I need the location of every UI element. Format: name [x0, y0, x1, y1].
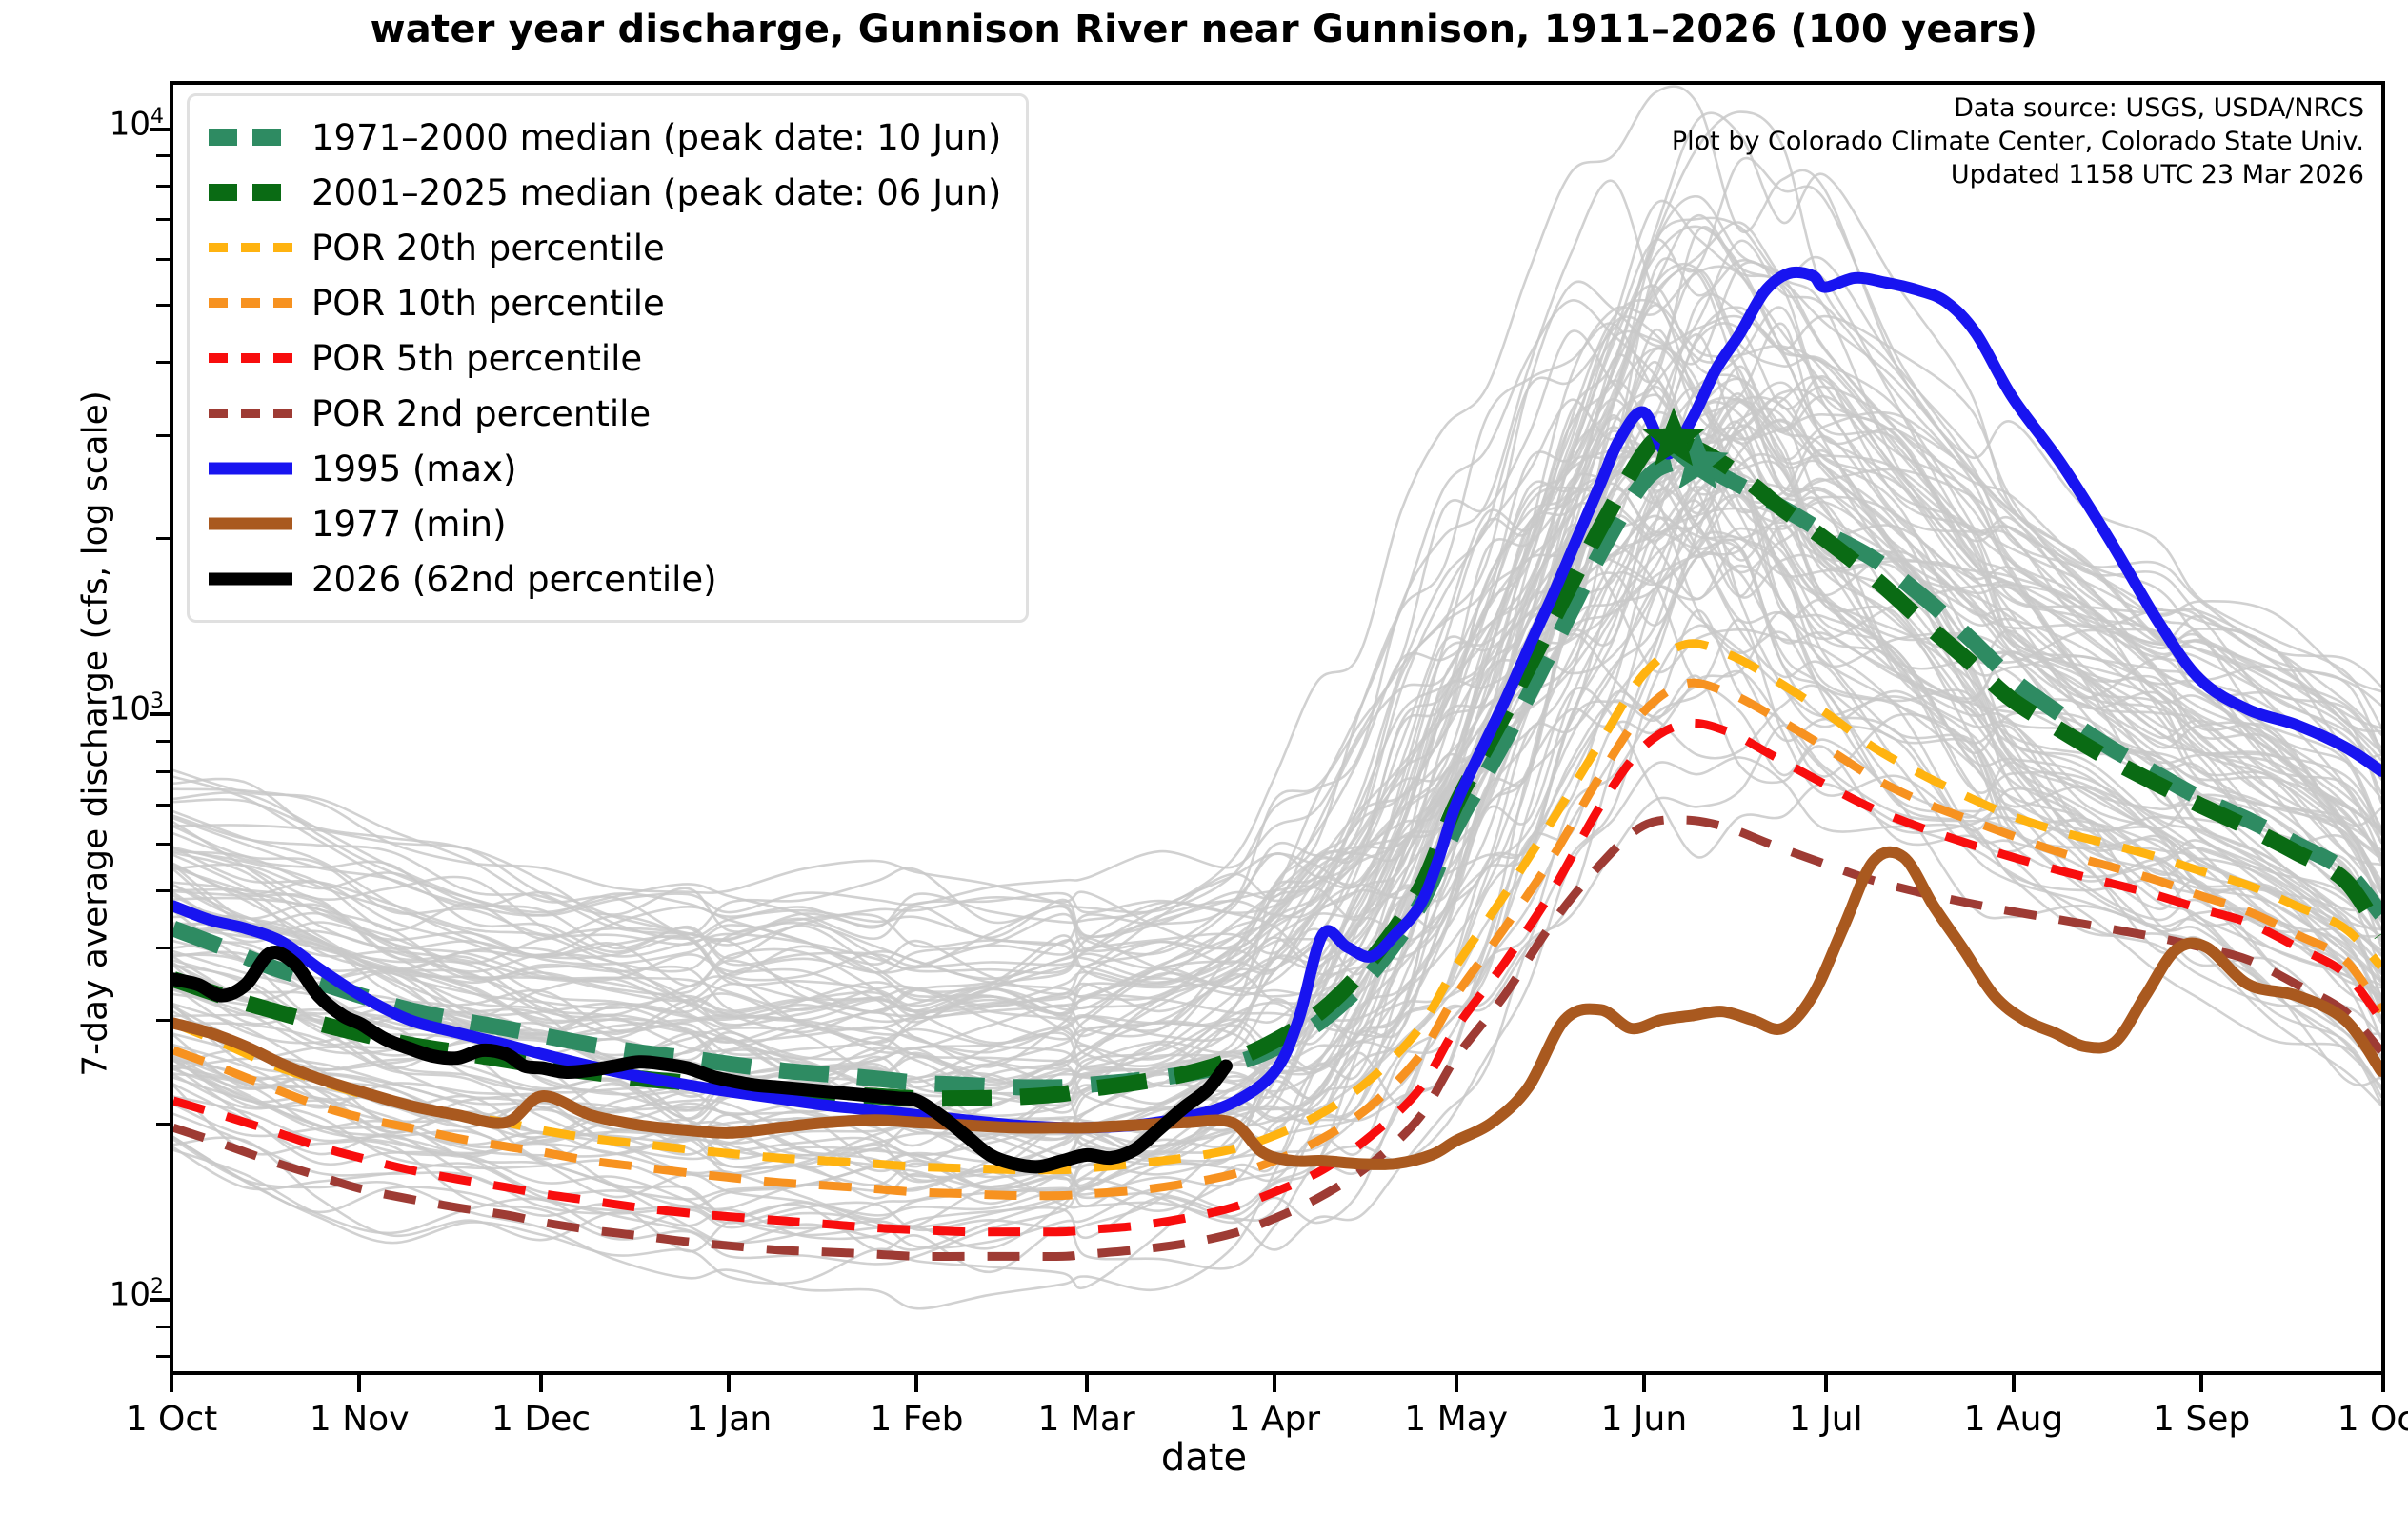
y-tick-mark-minor: [156, 1019, 170, 1022]
legend-item-year-2026-current[interactable]: 2026 (62nd percentile): [207, 551, 1001, 607]
y-tick-mark-minor: [156, 434, 170, 437]
legend-item-label: POR 2nd percentile: [311, 396, 651, 431]
legend-item-label: POR 5th percentile: [311, 341, 642, 376]
legend-item-year-1977-min[interactable]: 1977 (min): [207, 496, 1001, 551]
y-tick-mantissa: 10: [110, 105, 150, 143]
x-tick-mark: [1642, 1375, 1646, 1392]
legend-swatch-icon: [207, 441, 294, 496]
legend-item-label: 1995 (max): [311, 451, 516, 487]
x-tick-mark: [1273, 1375, 1276, 1392]
x-tick-label: 1 Aug: [1909, 1400, 2118, 1439]
x-tick-label: 1 Jul: [1721, 1400, 1931, 1439]
legend-item-por-p05[interactable]: POR 5th percentile: [207, 330, 1001, 386]
y-tick-mark-major: [150, 128, 170, 131]
legend: 1971–2000 median (peak date: 10 Jun)2001…: [187, 93, 1029, 623]
y-tick-mark-minor: [156, 1123, 170, 1126]
legend-item-year-1995-max[interactable]: 1995 (max): [207, 441, 1001, 496]
x-tick-label: 1 Oct: [2278, 1400, 2408, 1439]
y-tick-mark-minor: [156, 258, 170, 261]
x-tick-mark: [1085, 1375, 1089, 1392]
y-tick-exponent: 3: [150, 689, 164, 713]
y-tick-mark-minor: [156, 218, 170, 221]
x-tick-mark: [914, 1375, 918, 1392]
legend-item-label: 2001–2025 median (peak date: 06 Jun): [311, 175, 1001, 210]
y-tick-mark-major: [150, 1298, 170, 1302]
legend-item-por-p20[interactable]: POR 20th percentile: [207, 220, 1001, 275]
chart-root: water year discharge, Gunnison River nea…: [0, 0, 2408, 1515]
page-title: water year discharge, Gunnison River nea…: [0, 8, 2408, 51]
x-tick-label: 1 Apr: [1170, 1400, 1379, 1439]
source-annotation: Data source: USGS, USDA/NRCS Plot by Col…: [1672, 91, 2364, 191]
y-tick-mark-minor: [156, 361, 170, 364]
y-tick-mark-minor: [156, 804, 170, 807]
legend-item-label: POR 20th percentile: [311, 230, 665, 266]
y-tick-mark-minor: [156, 537, 170, 540]
legend-item-label: 2026 (62nd percentile): [311, 562, 717, 597]
x-tick-label: 1 Nov: [254, 1400, 464, 1439]
x-tick-label: 1 Oct: [67, 1400, 276, 1439]
x-tick-label: 1 Sep: [2097, 1400, 2306, 1439]
y-tick-mark-minor: [156, 1355, 170, 1358]
y-tick-exponent: 4: [150, 105, 164, 129]
y-tick-mark-minor: [156, 770, 170, 773]
legend-item-label: POR 10th percentile: [311, 286, 665, 321]
y-axis-title: 7-day average discharge (cfs, log scale): [76, 306, 115, 1163]
x-tick-mark: [2381, 1375, 2385, 1392]
y-tick-exponent: 2: [150, 1275, 164, 1299]
x-tick-mark: [2199, 1375, 2203, 1392]
x-tick-label: 1 Jun: [1539, 1400, 1749, 1439]
legend-item-por-p02[interactable]: POR 2nd percentile: [207, 386, 1001, 441]
annotation-line-updated: Updated 1158 UTC 23 Mar 2026: [1672, 158, 2364, 191]
y-tick-mark-minor: [156, 947, 170, 949]
legend-item-label: 1977 (min): [311, 507, 507, 542]
y-tick-mark-minor: [156, 889, 170, 892]
legend-item-median-1971-2000[interactable]: 1971–2000 median (peak date: 10 Jun): [207, 110, 1001, 165]
y-tick-mantissa: 10: [110, 690, 150, 728]
y-tick-label: 103: [0, 689, 164, 728]
annotation-line-plot-by: Plot by Colorado Climate Center, Colorad…: [1672, 125, 2364, 158]
legend-item-label: 1971–2000 median (peak date: 10 Jun): [311, 120, 1001, 155]
x-tick-mark: [1455, 1375, 1458, 1392]
y-tick-mark-minor: [156, 185, 170, 188]
legend-swatch-icon: [207, 496, 294, 551]
y-tick-mark-minor: [156, 154, 170, 157]
legend-item-median-2001-2025[interactable]: 2001–2025 median (peak date: 06 Jun): [207, 165, 1001, 220]
y-tick-mark-minor: [156, 843, 170, 846]
x-tick-mark: [170, 1375, 173, 1392]
x-tick-label: 1 Jan: [624, 1400, 833, 1439]
legend-item-por-p10[interactable]: POR 10th percentile: [207, 275, 1001, 330]
x-tick-mark: [2012, 1375, 2016, 1392]
legend-swatch-icon: [207, 165, 294, 220]
legend-swatch-icon: [207, 220, 294, 275]
y-tick-mark-minor: [156, 740, 170, 743]
x-tick-label: 1 May: [1352, 1400, 1561, 1439]
legend-swatch-icon: [207, 386, 294, 441]
y-tick-label: 102: [0, 1275, 164, 1313]
x-tick-label: 1 Dec: [436, 1400, 646, 1439]
x-tick-mark: [357, 1375, 361, 1392]
x-tick-mark: [727, 1375, 731, 1392]
y-tick-mark-minor: [156, 1326, 170, 1328]
y-tick-mark-major: [150, 712, 170, 716]
legend-swatch-icon: [207, 551, 294, 607]
y-tick-mark-minor: [156, 304, 170, 307]
legend-swatch-icon: [207, 275, 294, 330]
x-tick-mark: [1824, 1375, 1828, 1392]
x-tick-label: 1 Mar: [982, 1400, 1192, 1439]
x-tick-mark: [539, 1375, 543, 1392]
y-tick-mantissa: 10: [110, 1276, 150, 1314]
legend-swatch-icon: [207, 330, 294, 386]
legend-swatch-icon: [207, 110, 294, 165]
x-axis-title: date: [0, 1436, 2408, 1480]
y-tick-label: 104: [0, 105, 164, 143]
annotation-line-data-source: Data source: USGS, USDA/NRCS: [1672, 91, 2364, 125]
